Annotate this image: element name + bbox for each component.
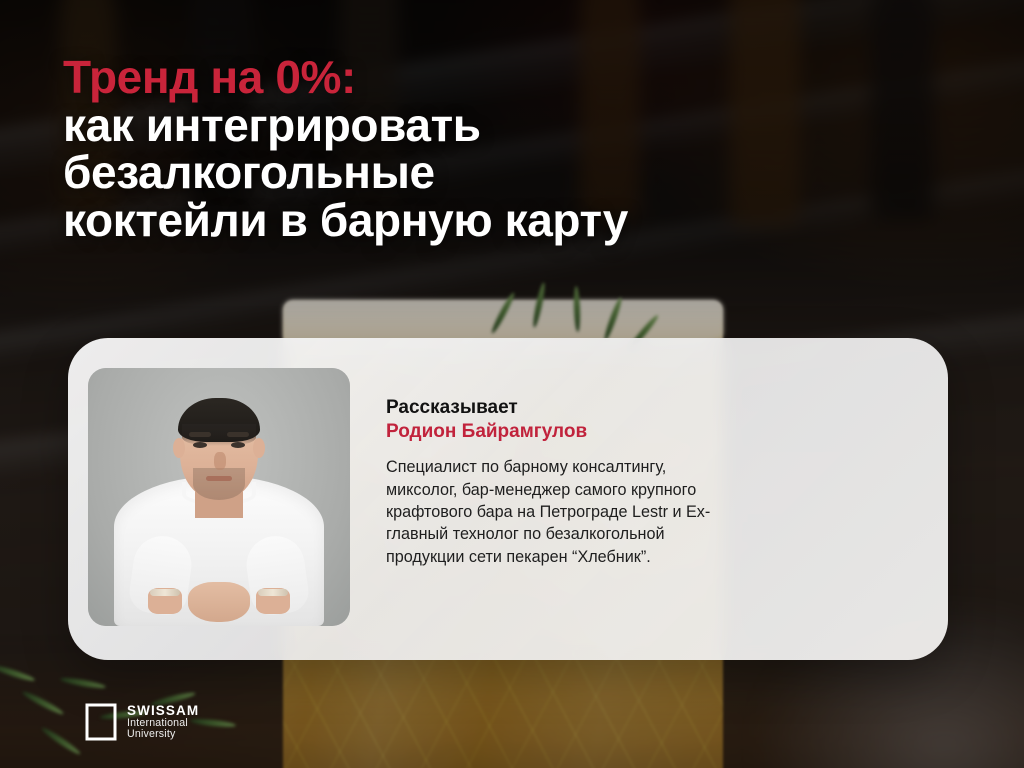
bio-line: главный технолог по безалкогольной bbox=[386, 523, 906, 545]
portrait-beard bbox=[193, 468, 245, 500]
slide-canvas: Тренд на 0%: как интегрировать безалкого… bbox=[0, 0, 1024, 768]
portrait-bracelet-left bbox=[150, 589, 180, 596]
bio-line: продукции сети пекарен “Хлебник”. bbox=[386, 546, 906, 568]
headline-line-2: как интегрировать bbox=[63, 102, 893, 150]
avatar bbox=[88, 368, 350, 626]
portrait-nose bbox=[214, 452, 226, 470]
logo-wordmark: SWISSAM International University bbox=[127, 704, 199, 741]
brand-logo: SWISSAM International University bbox=[84, 703, 199, 741]
headline-line-4: коктейли в барную карту bbox=[63, 197, 893, 245]
portrait-eye-left bbox=[193, 442, 207, 448]
portrait-eye-right bbox=[231, 442, 245, 448]
portrait-brow-right bbox=[227, 432, 249, 437]
speaker-card: Рассказывает Родион Байрамгулов Специали… bbox=[68, 338, 948, 660]
portrait-brow-left bbox=[189, 432, 211, 437]
speaker-bio: Специалист по барному консалтингу, миксо… bbox=[386, 456, 906, 568]
portrait-clasped-hands bbox=[188, 582, 250, 622]
portrait-ear-left bbox=[173, 438, 185, 458]
portrait-mouth bbox=[206, 476, 232, 481]
logo-title: SWISSAM bbox=[127, 704, 199, 718]
speaker-name: Родион Байрамгулов bbox=[386, 420, 906, 444]
headline-line-3: безалкогольные bbox=[63, 149, 893, 197]
speaker-photo bbox=[88, 368, 350, 626]
portrait-bracelet-right bbox=[258, 589, 288, 596]
swissam-bracket-icon bbox=[84, 703, 118, 741]
headline-line-accent: Тренд на 0%: bbox=[63, 54, 893, 102]
portrait-ear-right bbox=[253, 438, 265, 458]
speaker-intro-label: Рассказывает bbox=[386, 396, 906, 420]
logo-subtitle-line2: University bbox=[127, 729, 199, 740]
bio-line: миксолог, бар-менеджер самого крупного bbox=[386, 479, 906, 501]
speaker-info: Рассказывает Родион Байрамгулов Специали… bbox=[386, 396, 906, 568]
bio-line: крафтового бара на Петрограде Lestr и Ex… bbox=[386, 501, 906, 523]
bio-line: Специалист по барному консалтингу, bbox=[386, 456, 906, 478]
page-title: Тренд на 0%: как интегрировать безалкого… bbox=[63, 54, 893, 244]
